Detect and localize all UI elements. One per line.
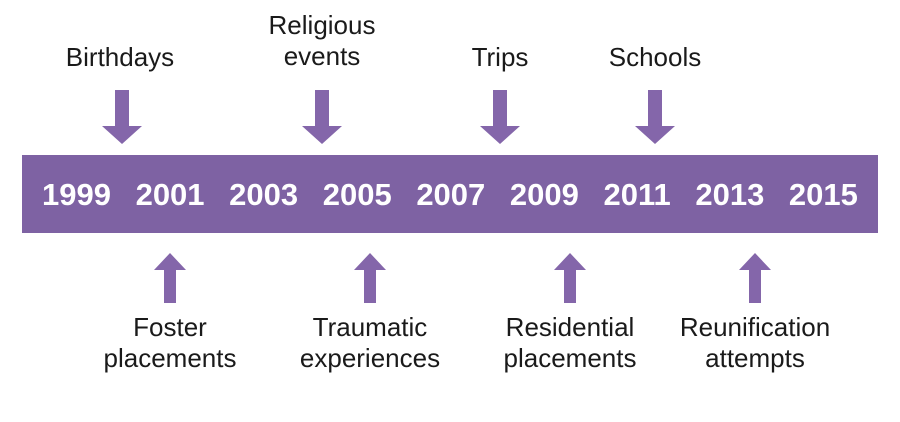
top-annotation-label-schools: Schools [609, 42, 702, 73]
year-2007: 2007 [416, 179, 485, 210]
year-2011: 2011 [603, 179, 670, 210]
arrow-up-icon-residential-placements [554, 253, 586, 303]
timeline-diagram: Birthdays Religious events Trips Schools… [0, 0, 900, 422]
arrow-down-icon-birthdays [102, 90, 142, 144]
arrow-up-icon-traumatic-experiences [354, 253, 386, 303]
arrow-up-icon-foster-placements [154, 253, 186, 303]
arrow-down-icon-schools [635, 90, 675, 144]
timeline-bar: 1999 2001 2003 2005 2007 2009 2011 2013 … [22, 155, 878, 233]
bottom-annotation-label-foster-placements: Foster placements [104, 312, 237, 373]
year-1999: 1999 [42, 179, 111, 210]
arrow-up-icon-reunification-attempts [739, 253, 771, 303]
arrow-down-icon-religious-events [302, 90, 342, 144]
year-list: 1999 2001 2003 2005 2007 2009 2011 2013 … [22, 179, 878, 210]
bottom-annotation-label-traumatic-experiences: Traumatic experiences [300, 312, 440, 373]
top-annotation-label-birthdays: Birthdays [66, 42, 174, 73]
arrow-down-icon-trips [480, 90, 520, 144]
year-2015: 2015 [789, 179, 858, 210]
year-2013: 2013 [695, 179, 764, 210]
top-annotation-label-religious-events: Religious events [269, 10, 376, 71]
top-annotation-label-trips: Trips [472, 42, 529, 73]
bottom-annotation-label-reunification-attempts: Reunification attempts [680, 312, 830, 373]
bottom-annotation-label-residential-placements: Residential placements [504, 312, 637, 373]
year-2001: 2001 [136, 179, 205, 210]
year-2003: 2003 [229, 179, 298, 210]
year-2005: 2005 [323, 179, 392, 210]
year-2009: 2009 [510, 179, 579, 210]
